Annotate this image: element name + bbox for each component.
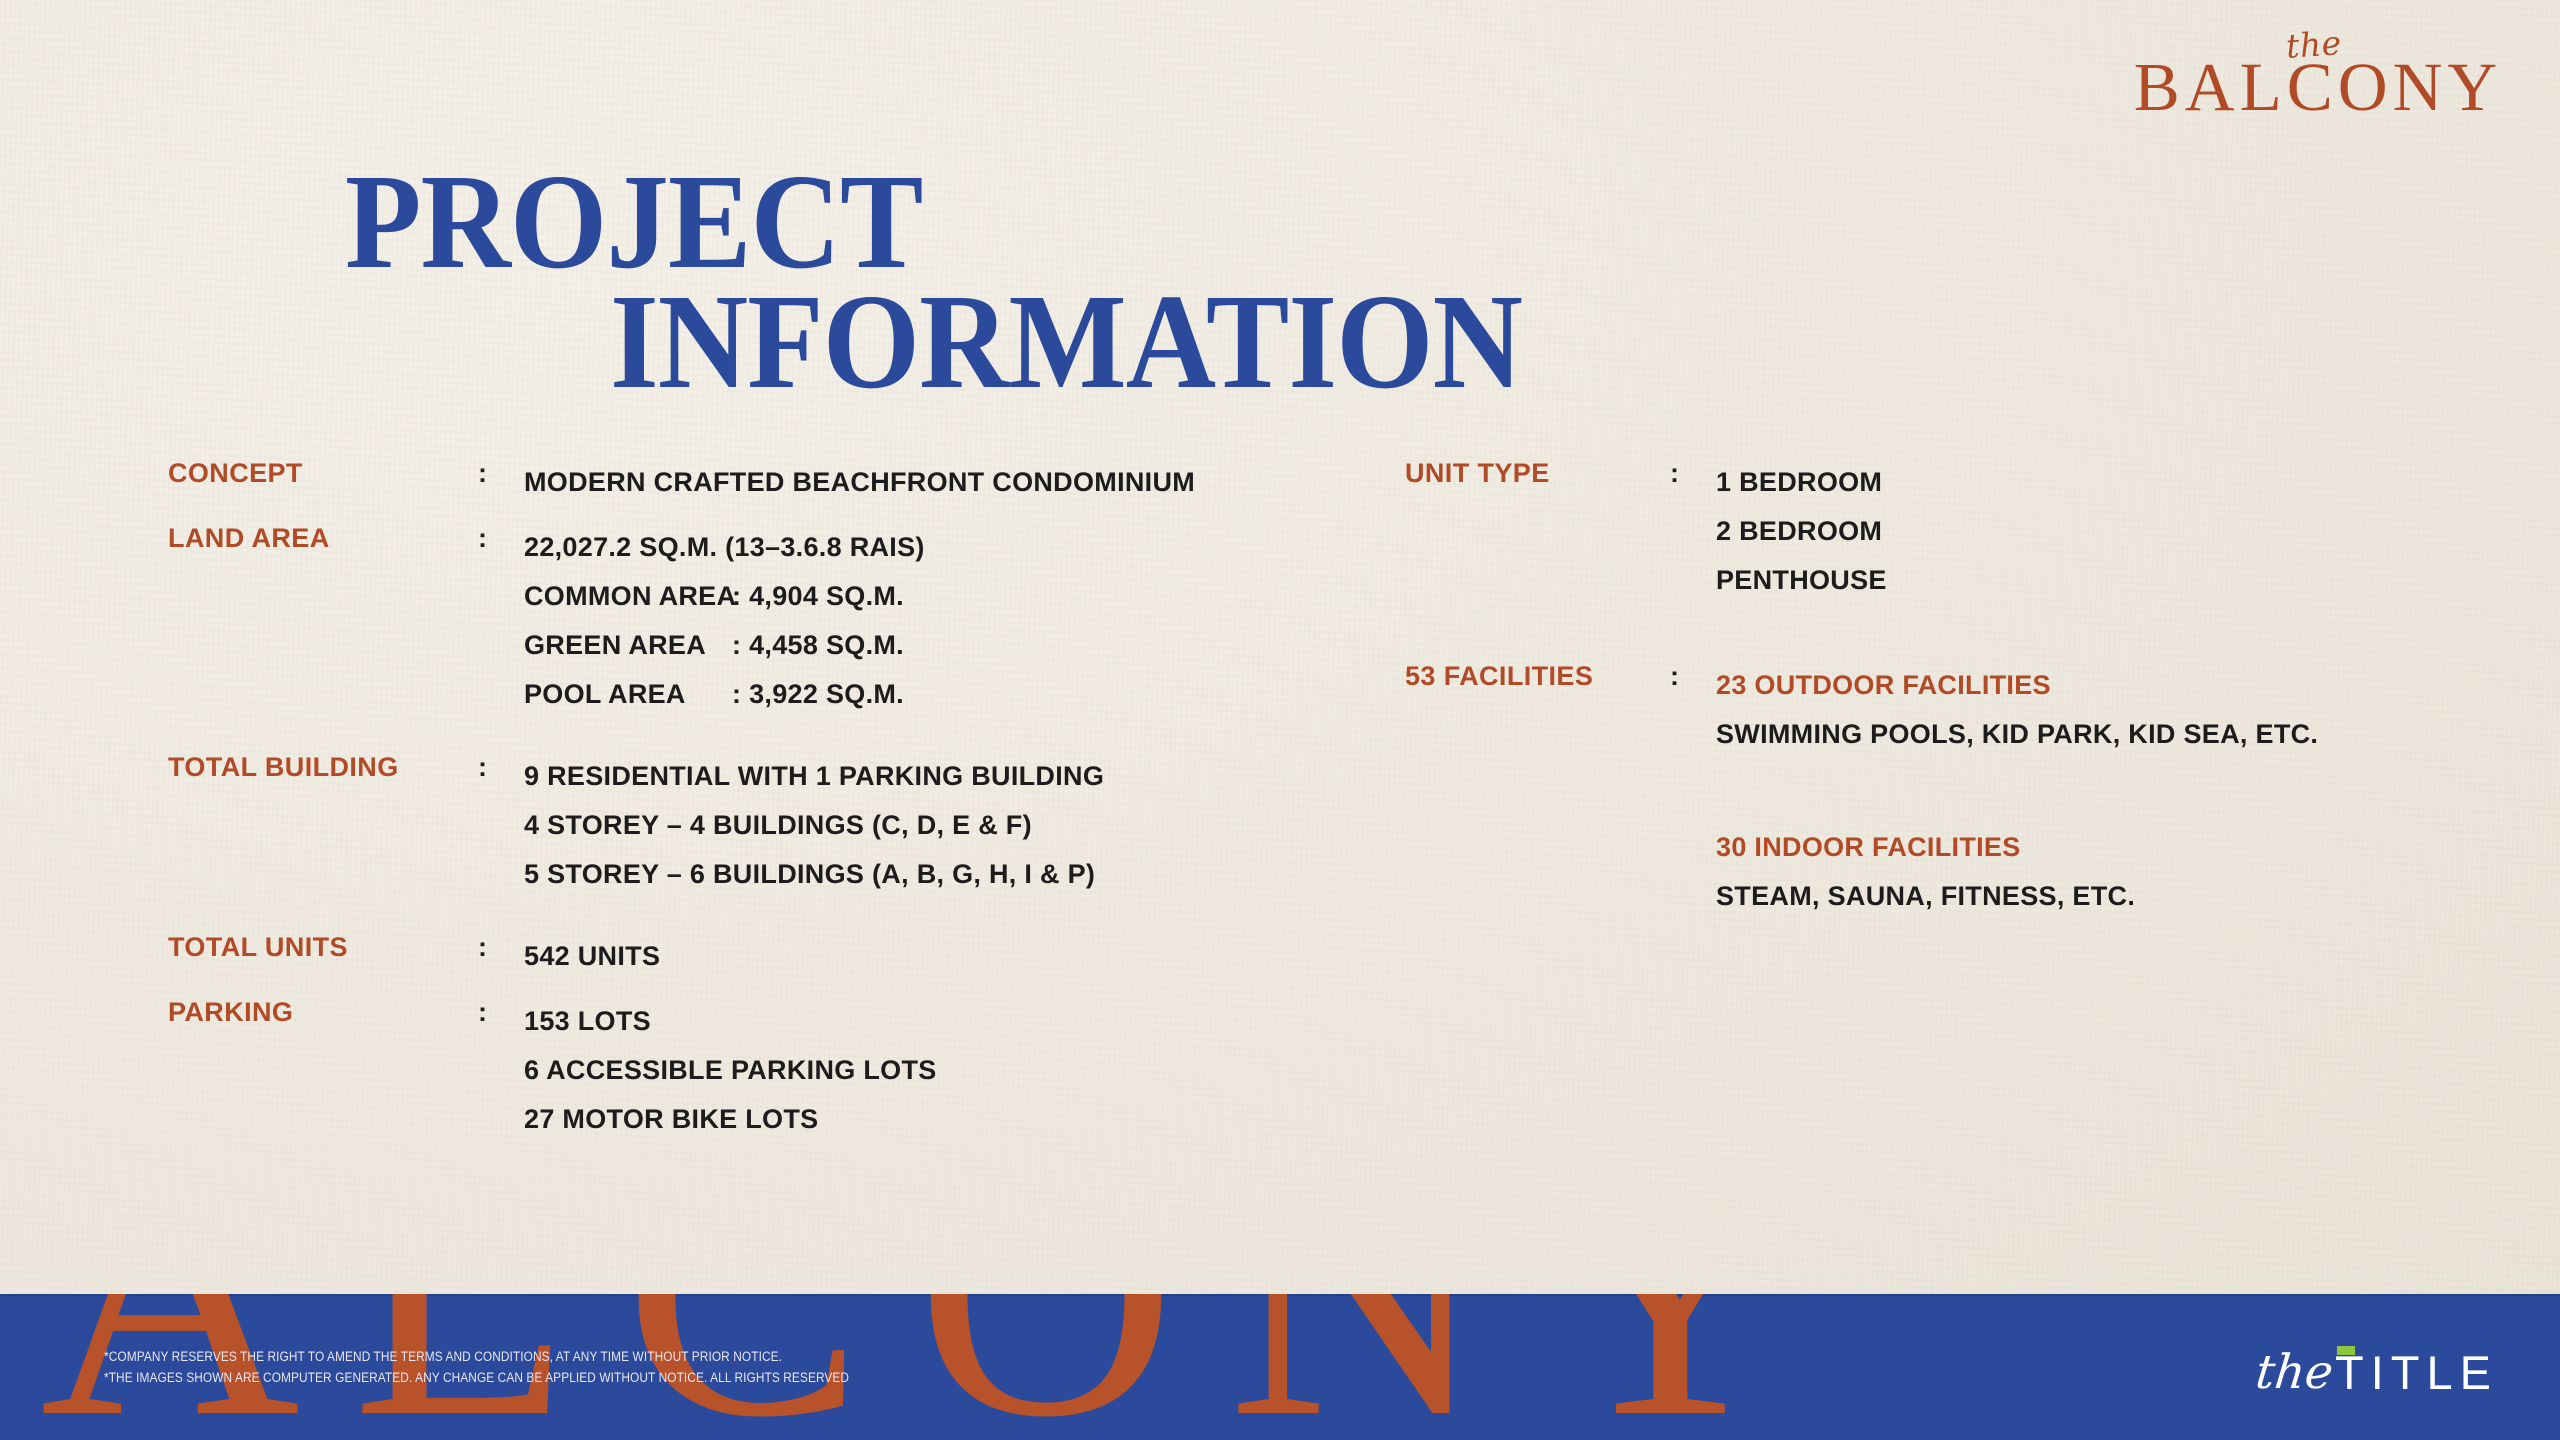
- value-total-building-line-3: 5 STOREY – 6 BUILDINGS (A, B, G, H, I & …: [524, 850, 1348, 899]
- separator-colon: :: [1670, 661, 1716, 692]
- balcony-logo-wordmark: BALCONY: [2128, 55, 2508, 121]
- label-parking: PARKING: [168, 997, 478, 1028]
- heading-indoor-facilities: 30 INDOOR FACILITIES: [1716, 823, 2465, 872]
- value-common-area: COMMON AREA: 4,904 SQ.M.: [524, 572, 1348, 621]
- spacer: [168, 719, 1348, 752]
- label-total-building: TOTAL BUILDING: [168, 752, 478, 783]
- disclaimer-line-1: *COMPANY RESERVES THE RIGHT TO AMEND THE…: [104, 1346, 849, 1367]
- value-land-area-total: 22,027.2 SQ.M. (13–3.6.8 RAIS): [524, 523, 1348, 572]
- spacer: [168, 981, 1348, 997]
- footer-disclaimer: *COMPANY RESERVES THE RIGHT TO AMEND THE…: [104, 1346, 849, 1388]
- spacer: [168, 507, 1348, 523]
- value-unit-type-group: 1 BEDROOM 2 BEDROOM PENTHOUSE: [1716, 458, 2465, 605]
- amount-common-area: : 4,904 SQ.M.: [732, 581, 904, 611]
- spacer: [168, 899, 1348, 932]
- key-pool-area: POOL AREA: [524, 670, 732, 719]
- row-concept: CONCEPT : MODERN CRAFTED BEACHFRONT COND…: [168, 458, 1348, 507]
- label-land-area: LAND AREA: [168, 523, 478, 554]
- page-title: PROJECT INFORMATION: [345, 163, 1645, 402]
- page-title-line-2: INFORMATION: [610, 283, 1562, 403]
- row-parking: PARKING : 153 LOTS 6 ACCESSIBLE PARKING …: [168, 997, 1348, 1144]
- row-facilities: 53 FACILITIES : 23 OUTDOOR FACILITIES SW…: [1405, 661, 2465, 921]
- row-land-area: LAND AREA : 22,027.2 SQ.M. (13–3.6.8 RAI…: [168, 523, 1348, 719]
- balcony-brand-logo: the BALCONY: [2128, 28, 2508, 138]
- value-concept: MODERN CRAFTED BEACHFRONT CONDOMINIUM: [524, 458, 1348, 507]
- separator-colon: :: [1670, 458, 1716, 489]
- label-total-units: TOTAL UNITS: [168, 932, 478, 963]
- label-unit-type: UNIT TYPE: [1405, 458, 1670, 489]
- list-outdoor-facilities: SWIMMING POOLS, KID PARK, KID SEA, ETC.: [1716, 710, 2465, 759]
- value-concept-group: MODERN CRAFTED BEACHFRONT CONDOMINIUM: [524, 458, 1348, 507]
- page-title-line-1: PROJECT: [345, 163, 1541, 283]
- value-total-building-line-1: 9 RESIDENTIAL WITH 1 PARKING BUILDING: [524, 752, 1348, 801]
- value-total-building-line-2: 4 STOREY – 4 BUILDINGS (C, D, E & F): [524, 801, 1348, 850]
- value-land-area-group: 22,027.2 SQ.M. (13–3.6.8 RAIS) COMMON AR…: [524, 523, 1348, 719]
- separator-colon: :: [478, 932, 524, 963]
- value-facilities-group: 23 OUTDOOR FACILITIES SWIMMING POOLS, KI…: [1716, 661, 2465, 921]
- footer-band: ALCONY *COMPANY RESERVES THE RIGHT TO AM…: [0, 1294, 2560, 1440]
- separator-colon: :: [478, 997, 524, 1028]
- value-green-area: GREEN AREA: 4,458 SQ.M.: [524, 621, 1348, 670]
- label-concept: CONCEPT: [168, 458, 478, 489]
- title-logo-script-the: the: [2254, 1349, 2336, 1396]
- value-parking-line-2: 6 ACCESSIBLE PARKING LOTS: [524, 1046, 1348, 1095]
- separator-colon: :: [478, 458, 524, 489]
- value-total-units-group: 542 UNITS: [524, 932, 1348, 981]
- value-total-building-group: 9 RESIDENTIAL WITH 1 PARKING BUILDING 4 …: [524, 752, 1348, 899]
- value-unit-type-line-3: PENTHOUSE: [1716, 556, 2465, 605]
- key-green-area: GREEN AREA: [524, 621, 732, 670]
- value-unit-type-line-2: 2 BEDROOM: [1716, 507, 2465, 556]
- title-logo-word-text: TITLE: [2335, 1346, 2498, 1399]
- amount-green-area: : 4,458 SQ.M.: [732, 630, 904, 660]
- separator-colon: :: [478, 523, 524, 554]
- value-parking-line-1: 153 LOTS: [524, 997, 1348, 1046]
- heading-outdoor-facilities: 23 OUTDOOR FACILITIES: [1716, 661, 2465, 710]
- balcony-logo-script-the: the: [2285, 26, 2343, 63]
- row-total-units: TOTAL UNITS : 542 UNITS: [168, 932, 1348, 981]
- amount-pool-area: : 3,922 SQ.M.: [732, 679, 904, 709]
- left-info-column: CONCEPT : MODERN CRAFTED BEACHFRONT COND…: [168, 458, 1348, 1144]
- right-info-column: UNIT TYPE : 1 BEDROOM 2 BEDROOM PENTHOUS…: [1405, 458, 2465, 921]
- list-indoor-facilities: STEAM, SAUNA, FITNESS, ETC.: [1716, 872, 2465, 921]
- separator-colon: :: [478, 752, 524, 783]
- spacer: [1716, 759, 2465, 823]
- title-logo-wordmark: TITLE: [2335, 1349, 2498, 1396]
- key-common-area: COMMON AREA: [524, 572, 732, 621]
- disclaimer-line-2: *THE IMAGES SHOWN ARE COMPUTER GENERATED…: [104, 1367, 849, 1388]
- spacer: [1405, 605, 2465, 661]
- value-parking-group: 153 LOTS 6 ACCESSIBLE PARKING LOTS 27 MO…: [524, 997, 1348, 1144]
- value-parking-line-3: 27 MOTOR BIKE LOTS: [524, 1095, 1348, 1144]
- the-title-developer-logo: the TITLE: [2256, 1330, 2498, 1400]
- value-unit-type-line-1: 1 BEDROOM: [1716, 458, 2465, 507]
- value-total-units: 542 UNITS: [524, 932, 1348, 981]
- green-accent-mark: [2337, 1346, 2355, 1355]
- row-total-building: TOTAL BUILDING : 9 RESIDENTIAL WITH 1 PA…: [168, 752, 1348, 899]
- row-unit-type: UNIT TYPE : 1 BEDROOM 2 BEDROOM PENTHOUS…: [1405, 458, 2465, 605]
- label-facilities: 53 FACILITIES: [1405, 661, 1670, 692]
- value-pool-area: POOL AREA: 3,922 SQ.M.: [524, 670, 1348, 719]
